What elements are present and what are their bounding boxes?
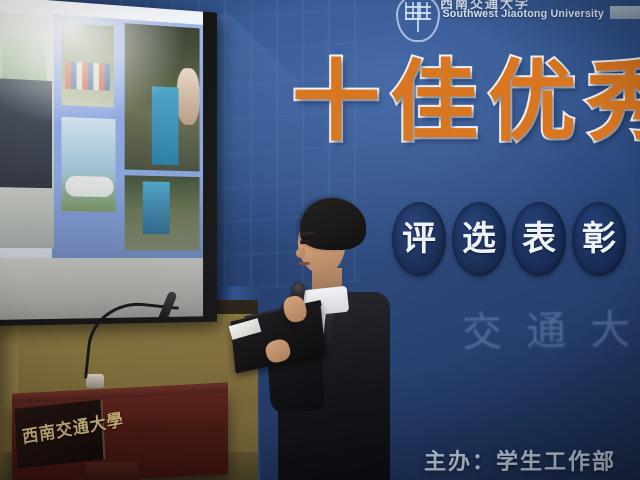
slide-photo-children-lineup	[62, 23, 114, 108]
slide-photo-teacher-students	[125, 23, 200, 171]
ceremony-photo-scene: 交通大 西南交通大学 Southwest Jiaotong University…	[0, 0, 640, 480]
screen-lower-shadow	[0, 176, 203, 258]
speaker-mouth	[299, 262, 310, 265]
podium-name-plate: 西南交通大學	[14, 400, 105, 469]
podium-stem	[86, 462, 138, 480]
speaker-eye	[300, 240, 311, 245]
projection-screen-frame	[0, 0, 217, 326]
speaker-nose	[296, 248, 305, 258]
projection-screen	[0, 0, 203, 258]
